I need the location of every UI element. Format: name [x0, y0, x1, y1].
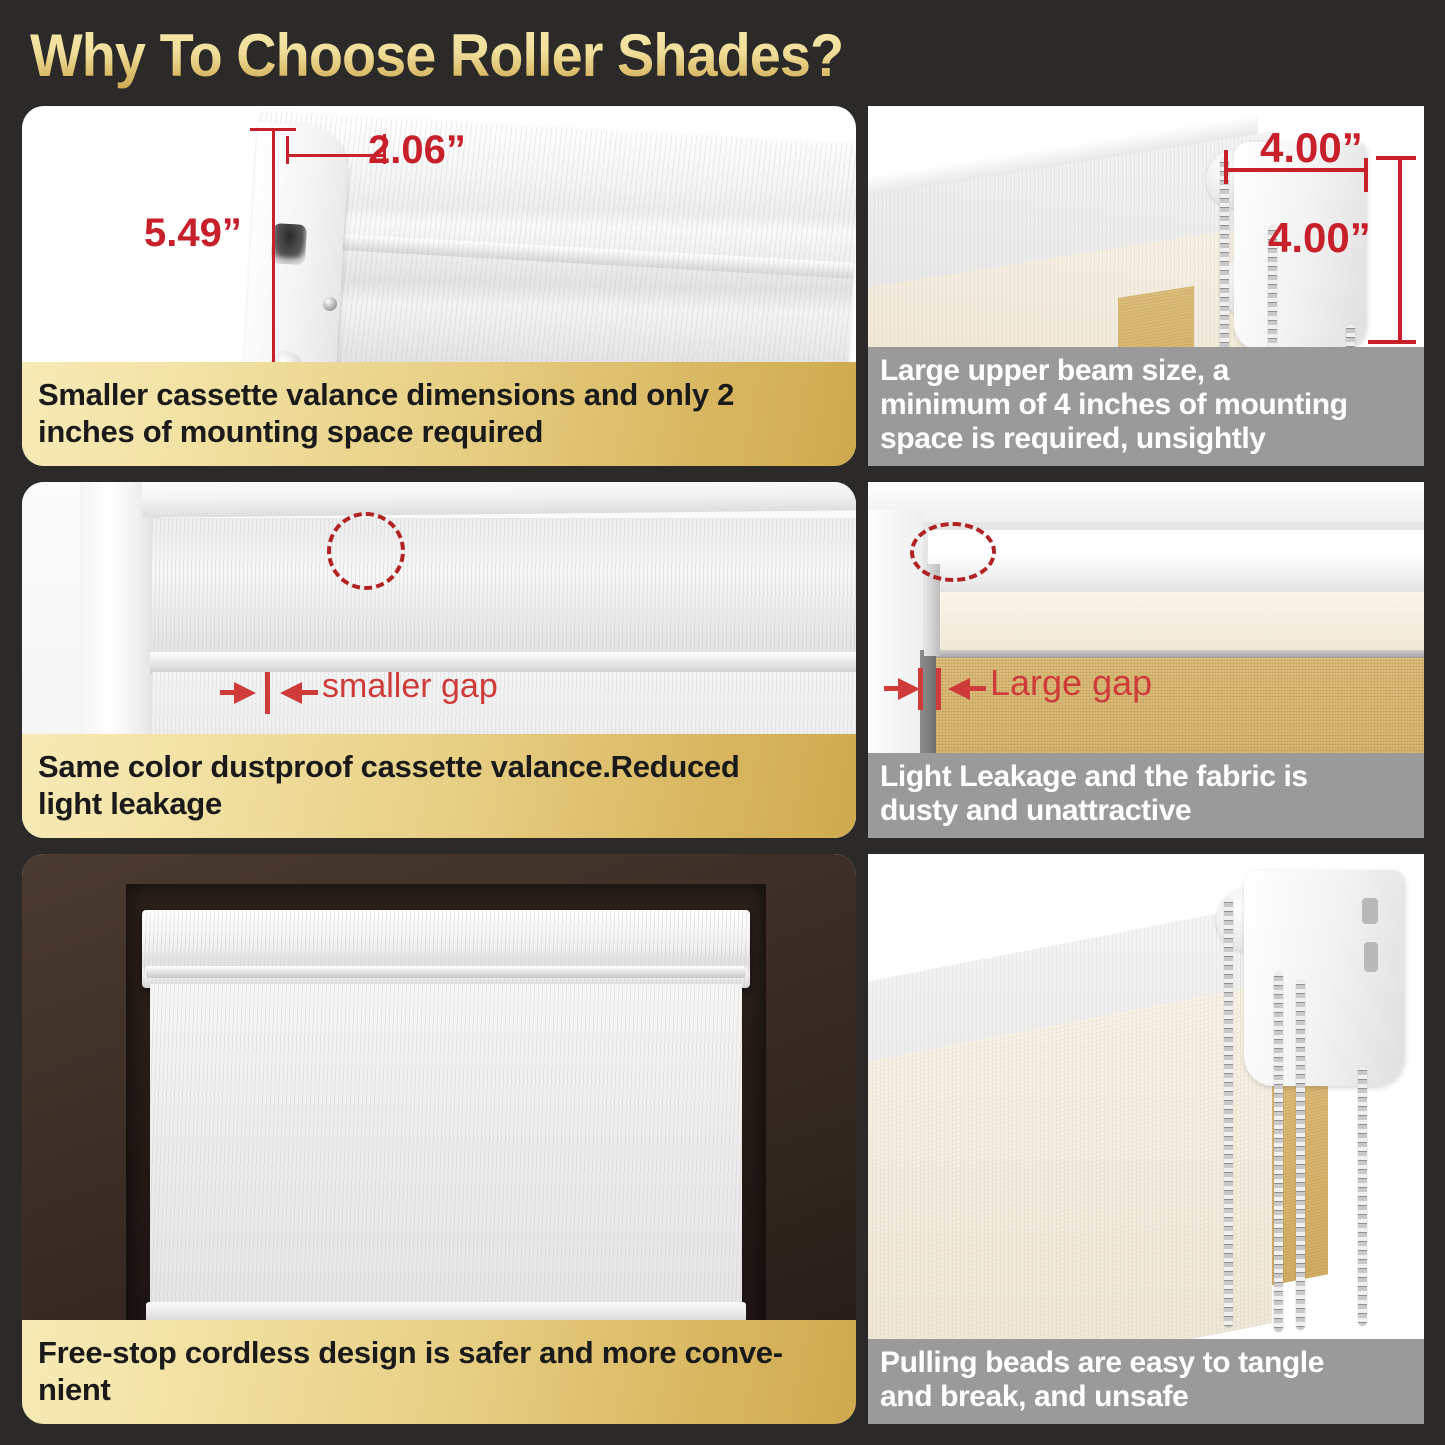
height-dimension-tick-top	[250, 128, 296, 131]
caption-line: Large upper beam size, a	[880, 354, 1412, 388]
height-dimension-label: 5.49”	[144, 211, 242, 256]
caption-light-leakage: Light Leakage and the fabric is dusty an…	[868, 753, 1424, 838]
caption-line: Smaller cassette valance dimensions and …	[38, 376, 840, 413]
infographic-page: Why To Choose Roller Shades? 5.49” 2.06”	[0, 0, 1445, 1445]
gap-marker-bar	[265, 672, 270, 714]
gap-arrow-left-tail	[220, 690, 238, 695]
beam-height-dimension-line	[1398, 156, 1402, 344]
cassette-valance	[142, 910, 750, 988]
comparison-grid: 5.49” 2.06” Smaller cassette valance dim…	[0, 106, 1445, 1436]
bracket-slot-upper	[1362, 898, 1378, 924]
beam-width-label: 4.00”	[1260, 124, 1363, 172]
shade-upper-section	[152, 518, 856, 658]
caption-line: inches of mounting space required	[38, 413, 840, 450]
panel-large-upper-beam: 4.00” 4.00” Large upper beam size, a min…	[868, 106, 1424, 466]
caption-line: Free-stop cordless design is safer and m…	[38, 1334, 840, 1371]
caption-line: space is required, unsightly	[880, 422, 1412, 456]
gap-arrow-left-tail	[884, 686, 902, 691]
gap-arrow-right-tail	[968, 686, 986, 691]
caption-cassette-dimensions: Smaller cassette valance dimensions and …	[22, 362, 856, 466]
panel-light-leakage: Large gap Light Leakage and the fabric i…	[868, 482, 1424, 838]
bracket-slot-lower	[1364, 942, 1378, 972]
caption-large-upper-beam: Large upper beam size, a minimum of 4 in…	[868, 347, 1424, 466]
shade-fabric	[150, 984, 742, 1306]
gap-highlight-circle	[910, 522, 996, 582]
shade-mid-rail	[150, 652, 856, 674]
gap-arrow-right-tail	[300, 690, 318, 695]
gap-marker-bar-left	[918, 668, 923, 710]
beam-width-tick-right	[1364, 158, 1368, 192]
gap-highlight-circle	[327, 512, 405, 590]
fabric-edge	[930, 650, 1424, 658]
caption-pulling-beads: Pulling beads are easy to tangle and bre…	[868, 1339, 1424, 1424]
width-dimension-label: 2.06”	[368, 128, 466, 173]
panel-cassette-dimensions: 5.49” 2.06” Smaller cassette valance dim…	[22, 106, 856, 466]
beam-width-tick-left	[1224, 150, 1228, 184]
mounting-bracket	[1244, 870, 1404, 1086]
smaller-gap-label: smaller gap	[322, 667, 498, 706]
caption-cordless-design: Free-stop cordless design is safer and m…	[22, 1320, 856, 1424]
caption-dustproof-cassette: Same color dustproof cassette valance.Re…	[22, 734, 856, 838]
bead-chain-loop	[1358, 1066, 1367, 1326]
caption-line: Pulling beads are easy to tangle	[880, 1346, 1412, 1380]
bead-chain-middle	[1274, 972, 1283, 1332]
beam-height-tick-bottom	[1368, 340, 1416, 344]
caption-line: and break, and unsafe	[880, 1380, 1412, 1414]
gap-arrow-right-icon	[280, 682, 302, 704]
bead-chain-back	[1296, 980, 1305, 1330]
beam-height-label: 4.00”	[1268, 214, 1371, 262]
gap-marker-bar-right	[936, 668, 941, 710]
caption-line: nient	[38, 1371, 840, 1408]
caption-line: light leakage	[38, 785, 840, 822]
caption-line: Same color dustproof cassette valance.Re…	[38, 748, 840, 785]
page-title: Why To Choose Roller Shades?	[30, 20, 1146, 92]
beam-height-tick-top	[1376, 156, 1416, 160]
cream-fabric-band	[934, 592, 1424, 652]
ceiling	[868, 482, 1424, 522]
caption-line: minimum of 4 inches of mounting	[880, 388, 1412, 422]
bead-chain-front	[1224, 898, 1233, 1328]
cord-hole	[271, 223, 307, 265]
panel-dustproof-cassette: smaller gap Same color dustproof cassett…	[22, 482, 856, 838]
panel-pulling-beads: Pulling beads are easy to tangle and bre…	[868, 854, 1424, 1424]
caption-line: Light Leakage and the fabric is	[880, 760, 1412, 794]
screw	[323, 297, 337, 311]
gap-arrow-right-icon	[948, 678, 970, 700]
caption-line: dusty and unattractive	[880, 794, 1412, 828]
panel-cordless-design: Free-stop cordless design is safer and m…	[22, 854, 856, 1424]
width-dimension-tick-left	[286, 136, 289, 164]
large-gap-label: Large gap	[990, 662, 1152, 704]
